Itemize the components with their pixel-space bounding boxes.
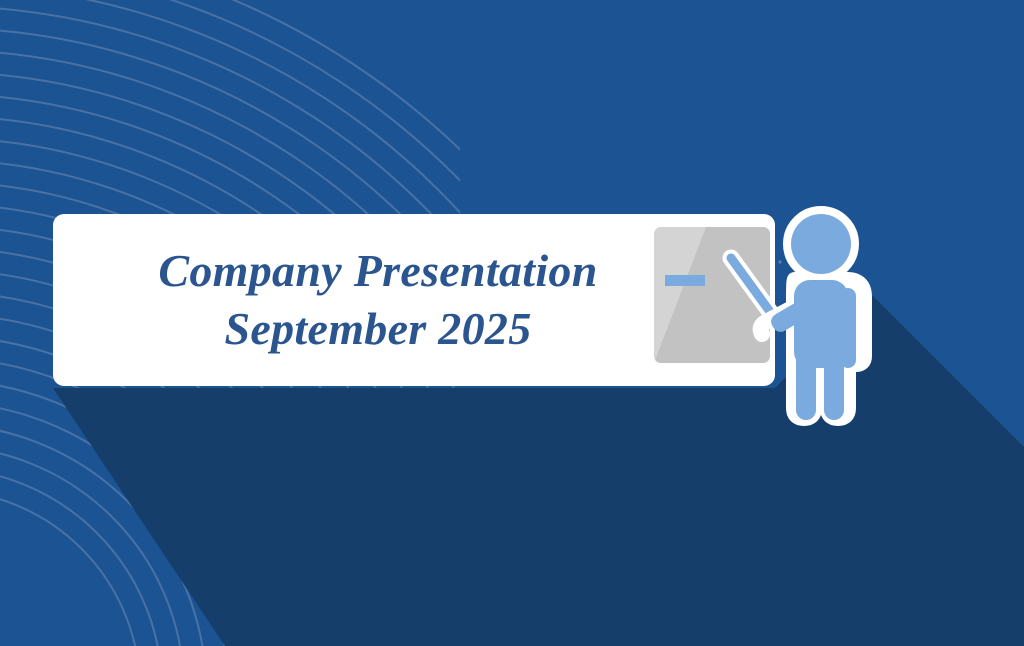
title-line-secondary: September 2025 xyxy=(225,300,532,358)
board-corner-dot xyxy=(778,260,781,263)
figure-right-leg xyxy=(824,346,844,420)
whiteboard-dash-mark xyxy=(665,275,705,286)
presenter-figure xyxy=(761,214,864,420)
presentation-slide: Company Presentation September 2025 xyxy=(0,0,1024,646)
title-line-primary: Company Presentation xyxy=(158,242,597,300)
presenter-at-whiteboard-illustration xyxy=(628,196,888,452)
title-block: Company Presentation September 2025 xyxy=(83,240,673,360)
figure-head xyxy=(791,214,851,274)
figure-left-leg xyxy=(796,346,816,420)
